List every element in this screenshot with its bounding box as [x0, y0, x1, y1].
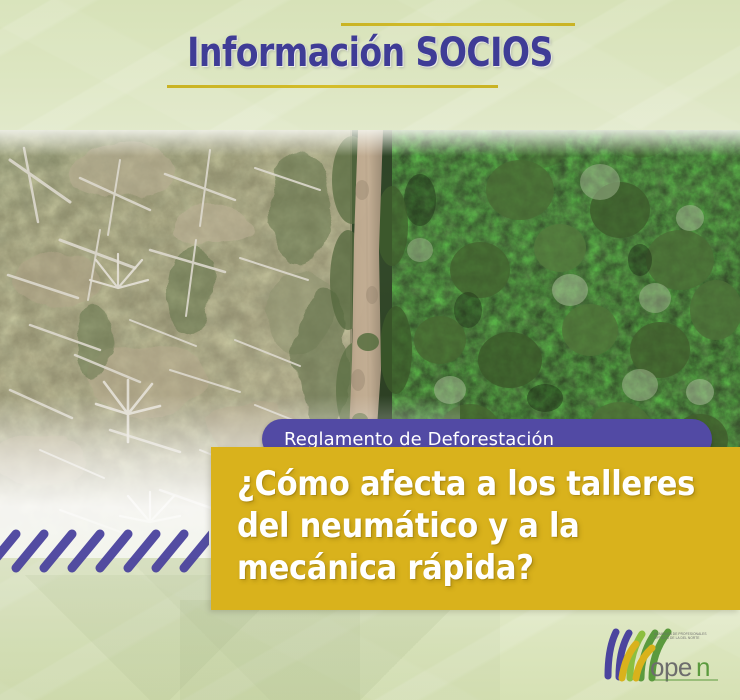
header-rule-bottom	[167, 85, 498, 88]
headline-text: ¿Cómo afecta a los talleres del neumátic…	[237, 463, 707, 589]
open-logo: ope n ASAMBLEA DE PROFESIONALES OPTICOS …	[592, 620, 732, 690]
slide-canvas: Información SOCIOS	[0, 0, 740, 700]
svg-text:ope: ope	[650, 652, 692, 682]
svg-text:n: n	[696, 652, 710, 682]
logo-tagline-line-2: OPTICOS DE LA DEL NORTE	[654, 636, 700, 640]
diagonal-stripes-motif	[0, 520, 209, 582]
header-rule-top	[341, 23, 575, 26]
logo-tagline: ASAMBLEA DE PROFESIONALES OPTICOS DE LA …	[654, 632, 700, 641]
page-title: Información SOCIOS	[30, 30, 711, 76]
headline-line-3: mecánica rápida?	[237, 547, 707, 589]
headline-panel: ¿Cómo afecta a los talleres del neumátic…	[211, 447, 740, 610]
headline-line-1: ¿Cómo afecta a los talleres	[237, 463, 707, 505]
headline-line-2: del neumático y a la	[237, 505, 707, 547]
